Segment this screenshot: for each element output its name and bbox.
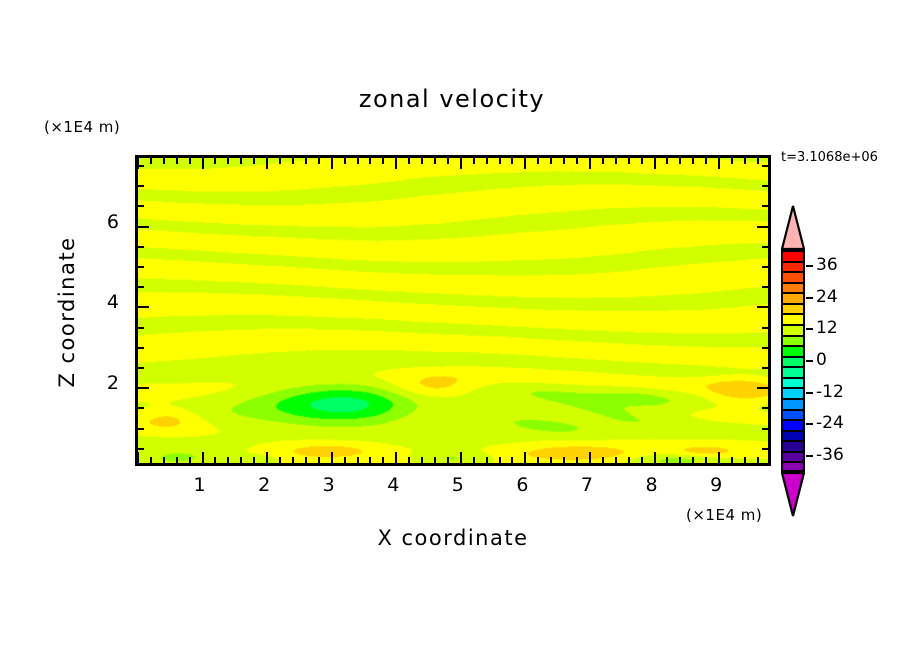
tick-mark xyxy=(666,457,668,463)
tick-mark xyxy=(305,158,307,164)
colorbar-tick xyxy=(806,265,813,267)
tick-mark xyxy=(762,428,768,430)
tick-mark xyxy=(176,158,178,164)
tick-mark xyxy=(227,158,229,164)
tick-mark xyxy=(408,158,410,164)
tick-mark xyxy=(511,158,513,164)
tick-mark xyxy=(499,158,501,164)
tick-mark xyxy=(138,407,144,409)
colorbar-tick xyxy=(806,297,813,299)
tick-mark xyxy=(138,347,144,349)
tick-mark xyxy=(138,428,144,430)
tick-mark xyxy=(486,457,488,463)
chart-title: zonal velocity xyxy=(0,85,904,113)
tick-mark xyxy=(762,448,768,450)
tick-mark xyxy=(762,407,768,409)
x-tick-label: 9 xyxy=(696,474,736,496)
tick-mark xyxy=(499,457,501,463)
tick-mark xyxy=(744,457,746,463)
tick-mark xyxy=(460,158,462,169)
tick-mark xyxy=(524,158,526,169)
tick-mark xyxy=(473,457,475,463)
tick-mark xyxy=(240,457,242,463)
tick-mark xyxy=(138,205,144,207)
tick-mark xyxy=(408,457,410,463)
colorbar-tick-label: 12 xyxy=(816,318,838,338)
colorbar-divider xyxy=(781,345,805,347)
tick-mark xyxy=(762,165,768,167)
colorbar-divider xyxy=(781,292,805,294)
colorbar-tick-label: 24 xyxy=(816,287,838,307)
tick-mark xyxy=(253,457,255,463)
tick-mark xyxy=(266,158,268,169)
tick-mark xyxy=(460,452,462,463)
tick-mark xyxy=(770,158,771,164)
tick-mark xyxy=(292,457,294,463)
tick-mark xyxy=(757,306,768,308)
tick-mark xyxy=(705,158,707,164)
tick-mark xyxy=(666,158,668,164)
tick-mark xyxy=(253,158,255,164)
colorbar xyxy=(781,250,805,472)
tick-mark xyxy=(744,158,746,164)
colorbar-tick xyxy=(806,360,813,362)
tick-mark xyxy=(762,347,768,349)
tick-mark xyxy=(138,165,144,167)
colorbar-divider xyxy=(781,271,805,273)
tick-mark xyxy=(138,286,144,288)
colorbar-divider xyxy=(781,440,805,442)
tick-mark xyxy=(318,158,320,164)
tick-mark xyxy=(305,457,307,463)
tick-mark xyxy=(511,457,513,463)
colorbar-divider xyxy=(781,324,805,326)
timestamp-annotation: t=3.1068e+06 xyxy=(781,150,878,165)
tick-mark xyxy=(214,457,216,463)
colorbar-divider xyxy=(781,451,805,453)
tick-mark xyxy=(654,452,656,463)
x-axis-unit-label: (×1E4 m) xyxy=(686,506,762,524)
tick-mark xyxy=(138,226,149,228)
tick-mark xyxy=(202,452,204,463)
colorbar-under-arrow xyxy=(781,472,805,517)
tick-mark xyxy=(227,457,229,463)
tick-mark xyxy=(576,457,578,463)
colorbar-divider xyxy=(781,313,805,315)
tick-mark xyxy=(331,158,333,169)
tick-mark xyxy=(137,158,139,169)
tick-mark xyxy=(762,205,768,207)
x-tick-label: 7 xyxy=(567,474,607,496)
tick-mark xyxy=(369,158,371,164)
colorbar-divider xyxy=(781,387,805,389)
tick-mark xyxy=(770,457,771,463)
tick-mark xyxy=(628,457,630,463)
colorbar-divider xyxy=(781,377,805,379)
colorbar-divider xyxy=(781,261,805,263)
tick-mark xyxy=(486,158,488,164)
tick-mark xyxy=(176,457,178,463)
tick-mark xyxy=(189,457,191,463)
tick-mark xyxy=(292,158,294,164)
x-tick-label: 3 xyxy=(309,474,349,496)
colorbar-tick-label: -24 xyxy=(816,413,844,433)
tick-mark xyxy=(331,452,333,463)
tick-mark xyxy=(602,457,604,463)
tick-mark xyxy=(138,306,149,308)
tick-mark xyxy=(731,457,733,463)
tick-mark xyxy=(679,457,681,463)
tick-mark xyxy=(447,158,449,164)
colorbar-divider xyxy=(781,461,805,463)
tick-mark xyxy=(344,457,346,463)
colorbar-divider xyxy=(781,282,805,284)
y-axis-unit-label: (×1E4 m) xyxy=(44,118,120,136)
tick-mark xyxy=(762,367,768,369)
tick-mark xyxy=(382,457,384,463)
tick-mark xyxy=(615,457,617,463)
tick-mark xyxy=(138,185,144,187)
tick-mark xyxy=(163,457,165,463)
tick-mark xyxy=(434,457,436,463)
colorbar-tick xyxy=(806,455,813,457)
tick-mark xyxy=(705,457,707,463)
tick-mark xyxy=(602,158,604,164)
tick-mark xyxy=(189,158,191,164)
tick-mark xyxy=(654,158,656,169)
tick-mark xyxy=(395,452,397,463)
colorbar-divider xyxy=(781,303,805,305)
colorbar-divider xyxy=(781,356,805,358)
tick-mark xyxy=(150,158,152,164)
tick-mark xyxy=(434,158,436,164)
tick-mark xyxy=(369,457,371,463)
tick-mark xyxy=(757,158,759,164)
tick-mark xyxy=(240,158,242,164)
colorbar-tick xyxy=(806,328,813,330)
x-tick-label: 1 xyxy=(180,474,220,496)
x-tick-label: 8 xyxy=(632,474,672,496)
colorbar-divider xyxy=(781,430,805,432)
tick-mark xyxy=(576,158,578,164)
y-tick-label: 6 xyxy=(95,211,119,233)
x-tick-label: 2 xyxy=(244,474,284,496)
tick-mark xyxy=(357,158,359,164)
tick-mark xyxy=(421,457,423,463)
tick-mark xyxy=(138,266,144,268)
colorbar-divider xyxy=(781,250,805,252)
tick-mark xyxy=(757,387,768,389)
y-tick-label: 2 xyxy=(95,372,119,394)
contour-plot-area xyxy=(135,155,771,466)
tick-mark xyxy=(138,367,144,369)
tick-mark xyxy=(395,158,397,169)
tick-mark xyxy=(137,452,139,463)
tick-mark xyxy=(679,158,681,164)
colorbar-divider xyxy=(781,419,805,421)
colorbar-divider xyxy=(781,409,805,411)
tick-mark xyxy=(421,158,423,164)
tick-mark xyxy=(692,457,694,463)
tick-mark xyxy=(318,457,320,463)
tick-mark xyxy=(589,158,591,169)
tick-mark xyxy=(718,452,720,463)
colorbar-over-arrow xyxy=(781,205,805,250)
colorbar-tick-label: -12 xyxy=(816,382,844,402)
tick-mark xyxy=(762,246,768,248)
colorbar-divider xyxy=(781,366,805,368)
colorbar-tick-label: -36 xyxy=(816,445,844,465)
tick-mark xyxy=(138,448,144,450)
tick-mark xyxy=(762,266,768,268)
tick-mark xyxy=(641,158,643,164)
tick-mark xyxy=(589,452,591,463)
tick-mark xyxy=(163,158,165,164)
colorbar-tick-label: 0 xyxy=(816,350,827,370)
tick-mark xyxy=(563,158,565,164)
x-axis-title: X coordinate xyxy=(135,526,771,550)
tick-mark xyxy=(382,158,384,164)
tick-mark xyxy=(357,457,359,463)
colorbar-tick xyxy=(806,392,813,394)
colorbar-tick-label: 36 xyxy=(816,255,838,275)
tick-mark xyxy=(692,158,694,164)
tick-mark xyxy=(266,452,268,463)
tick-mark xyxy=(473,158,475,164)
tick-mark xyxy=(344,158,346,164)
tick-mark xyxy=(537,158,539,164)
tick-mark xyxy=(563,457,565,463)
tick-mark xyxy=(628,158,630,164)
tick-mark xyxy=(762,185,768,187)
tick-mark xyxy=(641,457,643,463)
tick-mark xyxy=(731,158,733,164)
y-tick-label: 4 xyxy=(95,291,119,313)
colorbar-divider xyxy=(781,398,805,400)
colorbar-divider xyxy=(781,335,805,337)
y-axis-title: Z coordinate xyxy=(55,227,79,397)
tick-mark xyxy=(524,452,526,463)
tick-mark xyxy=(202,158,204,169)
tick-mark xyxy=(214,158,216,164)
tick-mark xyxy=(718,158,720,169)
tick-mark xyxy=(537,457,539,463)
x-tick-label: 6 xyxy=(502,474,542,496)
colorbar-tick xyxy=(806,423,813,425)
tick-mark xyxy=(279,158,281,164)
tick-mark xyxy=(150,457,152,463)
tick-mark xyxy=(550,457,552,463)
tick-mark xyxy=(138,246,144,248)
tick-mark xyxy=(279,457,281,463)
tick-mark xyxy=(138,327,144,329)
tick-mark xyxy=(447,457,449,463)
x-tick-label: 4 xyxy=(373,474,413,496)
tick-mark xyxy=(615,158,617,164)
contour-field xyxy=(138,158,768,463)
tick-mark xyxy=(757,226,768,228)
x-tick-label: 5 xyxy=(438,474,478,496)
tick-mark xyxy=(762,286,768,288)
tick-mark xyxy=(762,327,768,329)
tick-mark xyxy=(550,158,552,164)
tick-mark xyxy=(138,387,149,389)
tick-mark xyxy=(757,457,759,463)
